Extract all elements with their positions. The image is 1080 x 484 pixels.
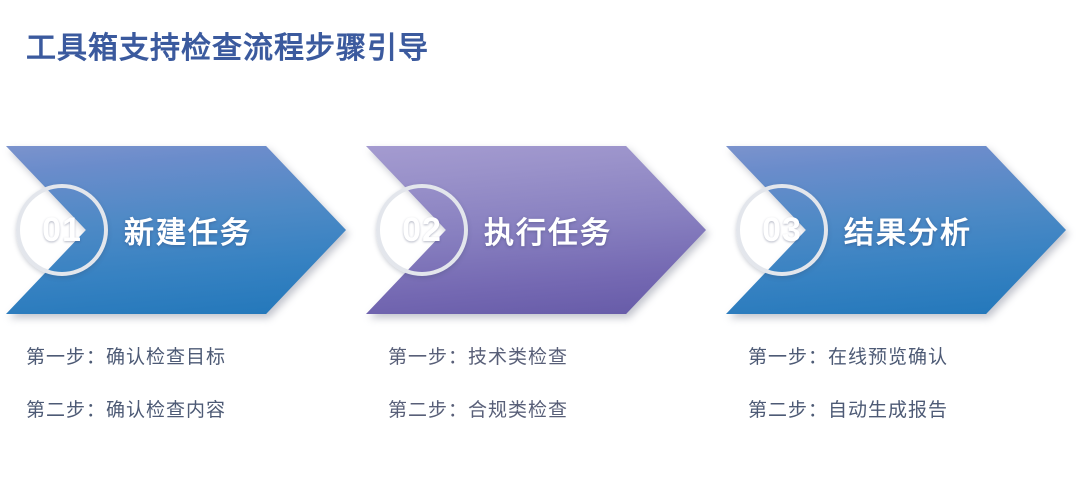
detail-line: 第二步：确认检查内容 (26, 401, 366, 420)
flow-step-02[interactable]: 02 执行任务 (366, 146, 706, 314)
detail-line: 第二步：合规类检查 (388, 401, 728, 420)
step-title-03: 结果分析 (844, 146, 972, 314)
step-number-label: 01 (42, 213, 82, 247)
detail-line: 第二步：自动生成报告 (748, 401, 1080, 420)
page-title: 工具箱支持检查流程步骤引导 (26, 34, 429, 64)
process-flow: 01 新建任务 02 执行任务 03 结果分析 (0, 146, 1080, 318)
step-badge-03: 03 (736, 184, 828, 276)
step-title-02: 执行任务 (484, 146, 612, 314)
step-detail-column-02: 第一步：技术类检查 第二步：合规类检查 (388, 348, 728, 454)
detail-line: 第一步：在线预览确认 (748, 348, 1080, 367)
detail-line: 第一步：确认检查目标 (26, 348, 366, 367)
step-number-label: 03 (762, 213, 802, 247)
step-badge-02: 02 (376, 184, 468, 276)
detail-line: 第一步：技术类检查 (388, 348, 728, 367)
step-badge-01: 01 (16, 184, 108, 276)
step-detail-column-03: 第一步：在线预览确认 第二步：自动生成报告 (748, 348, 1080, 454)
step-details: 第一步：确认检查目标 第二步：确认检查内容 第一步：技术类检查 第二步：合规类检… (0, 348, 1080, 458)
flow-step-03[interactable]: 03 结果分析 (726, 146, 1066, 314)
step-title-01: 新建任务 (124, 146, 252, 314)
step-detail-column-01: 第一步：确认检查目标 第二步：确认检查内容 (26, 348, 366, 454)
flow-step-01[interactable]: 01 新建任务 (6, 146, 346, 314)
step-number-label: 02 (402, 213, 442, 247)
